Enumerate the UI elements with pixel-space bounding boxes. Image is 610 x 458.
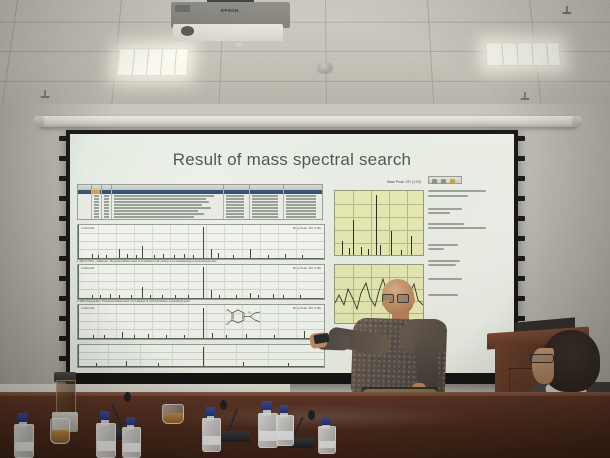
water-bottle bbox=[318, 418, 334, 454]
projector-lens bbox=[181, 26, 194, 35]
spectrum-chart-3: 1.00e+000 Base Peak: 197 (1.00) bbox=[77, 304, 325, 340]
save-icon[interactable] bbox=[450, 179, 455, 184]
projector-brand-label: EPSON bbox=[221, 8, 239, 13]
document-icon[interactable] bbox=[432, 179, 437, 184]
table-row[interactable] bbox=[78, 201, 322, 203]
water-bottle bbox=[96, 412, 114, 458]
search-hit-list[interactable] bbox=[77, 184, 323, 220]
svg-text:Cl: Cl bbox=[226, 322, 229, 326]
library-hit-spectrum-panel: Base Peak: 197 (1.00) bbox=[334, 190, 424, 256]
ceiling-light-panel-left bbox=[116, 48, 188, 76]
chlorpyrifos-structure-icon: Cl Cl P bbox=[224, 309, 264, 331]
dispenser-tube bbox=[56, 380, 76, 416]
audience-member-glasses-icon bbox=[530, 354, 554, 363]
spectrum-2-header-left: 1.00e+000 bbox=[81, 266, 94, 270]
table-row[interactable] bbox=[78, 198, 322, 200]
water-bottle bbox=[258, 402, 276, 448]
projector-vent bbox=[175, 5, 190, 13]
spectrum-chart-2: 1.00e+000 Base Peak: 197 (1.00) bbox=[77, 264, 325, 300]
table-row[interactable] bbox=[78, 210, 322, 212]
screen-roller-housing bbox=[38, 116, 578, 127]
spectrum-2-header-right: Base Peak: 197 (1.00) bbox=[293, 266, 321, 270]
drinking-glass bbox=[162, 404, 184, 424]
slide-title: Result of mass spectral search bbox=[70, 150, 514, 170]
spectrum-2-caption: 2 100 Chlorpyrifos, Phosphorothioic acid… bbox=[77, 299, 190, 303]
drinking-glass bbox=[50, 418, 70, 444]
gooseneck-microphone bbox=[222, 400, 250, 442]
table-row[interactable] bbox=[78, 213, 322, 215]
svg-text:Cl: Cl bbox=[226, 309, 229, 312]
svg-text:P: P bbox=[249, 311, 251, 315]
print-icon[interactable] bbox=[441, 179, 446, 184]
spectrum-1-caption: 1 100 %(TIC) - Diazinon, Phosphorothioic… bbox=[77, 259, 217, 263]
spectrum-panel-caption: Base Peak: 197 (1.00) bbox=[387, 180, 421, 184]
ceiling-light-panel-right bbox=[485, 42, 561, 66]
spectrum-1-header-left: 1.00e+000 bbox=[81, 226, 94, 230]
table-row[interactable] bbox=[78, 216, 322, 218]
hit-list-selected-row[interactable] bbox=[78, 190, 322, 194]
hit-list-selection-marker bbox=[92, 190, 100, 194]
sprinkler-head-right bbox=[562, 6, 572, 16]
sprinkler-head-center bbox=[520, 92, 530, 102]
screen-tension-tabs-left bbox=[59, 130, 67, 384]
spectrum-chart-1: 1.00e+000 Base Peak: 197 (1.00) bbox=[77, 224, 325, 260]
water-bottle bbox=[14, 414, 32, 458]
smoke-detector-icon bbox=[318, 62, 332, 72]
ceiling-projector: EPSON bbox=[171, 2, 290, 44]
table-row[interactable] bbox=[78, 204, 322, 206]
water-bottle bbox=[122, 418, 139, 458]
presenter-nose bbox=[382, 300, 389, 307]
table-row[interactable] bbox=[78, 195, 322, 197]
sprinkler-head-left bbox=[40, 90, 50, 100]
spectrum-1-header-right: Base Peak: 197 (1.00) bbox=[293, 226, 321, 230]
spectrum-chart-4 bbox=[77, 344, 325, 368]
table-row[interactable] bbox=[78, 207, 322, 209]
spectrum-3-header-left: 1.00e+000 bbox=[81, 306, 94, 310]
presentation-room-photo: EPSON bbox=[0, 0, 610, 458]
water-bottle bbox=[276, 406, 292, 446]
water-bottle bbox=[202, 408, 219, 452]
spectrum-3-header-right: Base Peak: 197 (1.00) bbox=[293, 306, 321, 310]
presenter-ear bbox=[408, 295, 415, 305]
panel-toolbar[interactable] bbox=[428, 176, 462, 184]
